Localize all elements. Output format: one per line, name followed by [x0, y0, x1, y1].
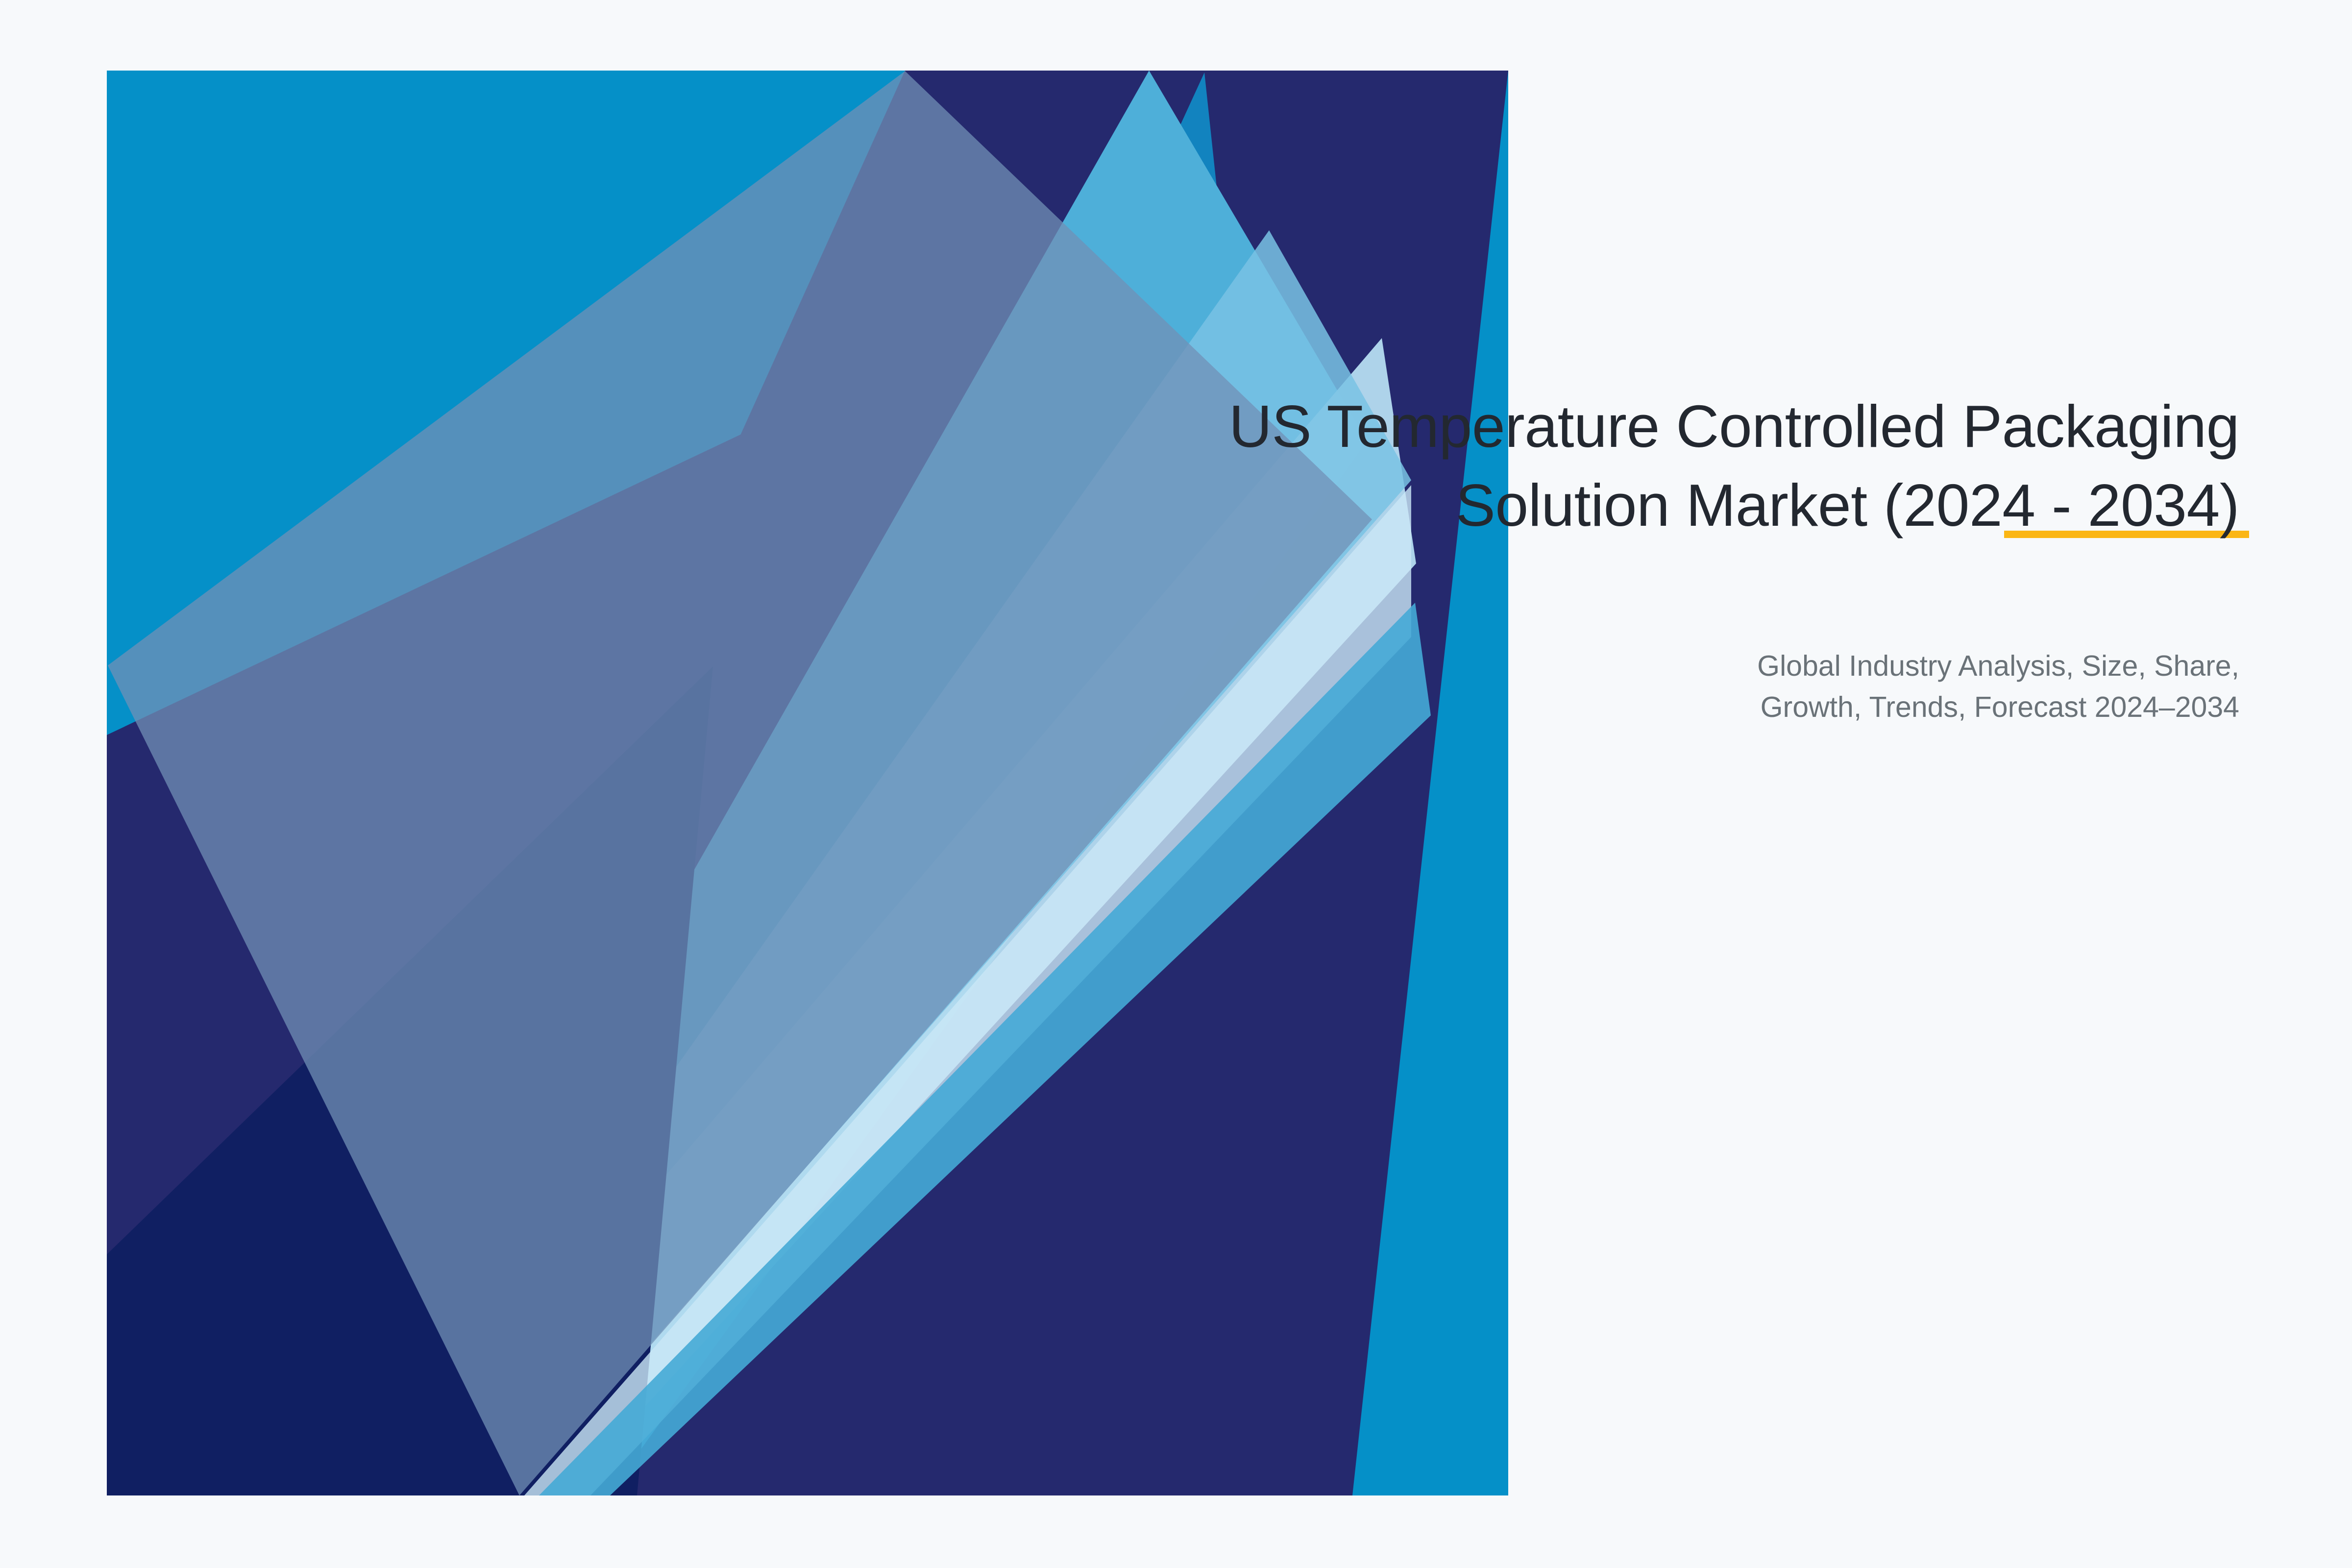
cover-page: US Temperature Controlled Packaging Solu… [0, 0, 2352, 1568]
abstract-polygon-artwork [0, 0, 2352, 1568]
